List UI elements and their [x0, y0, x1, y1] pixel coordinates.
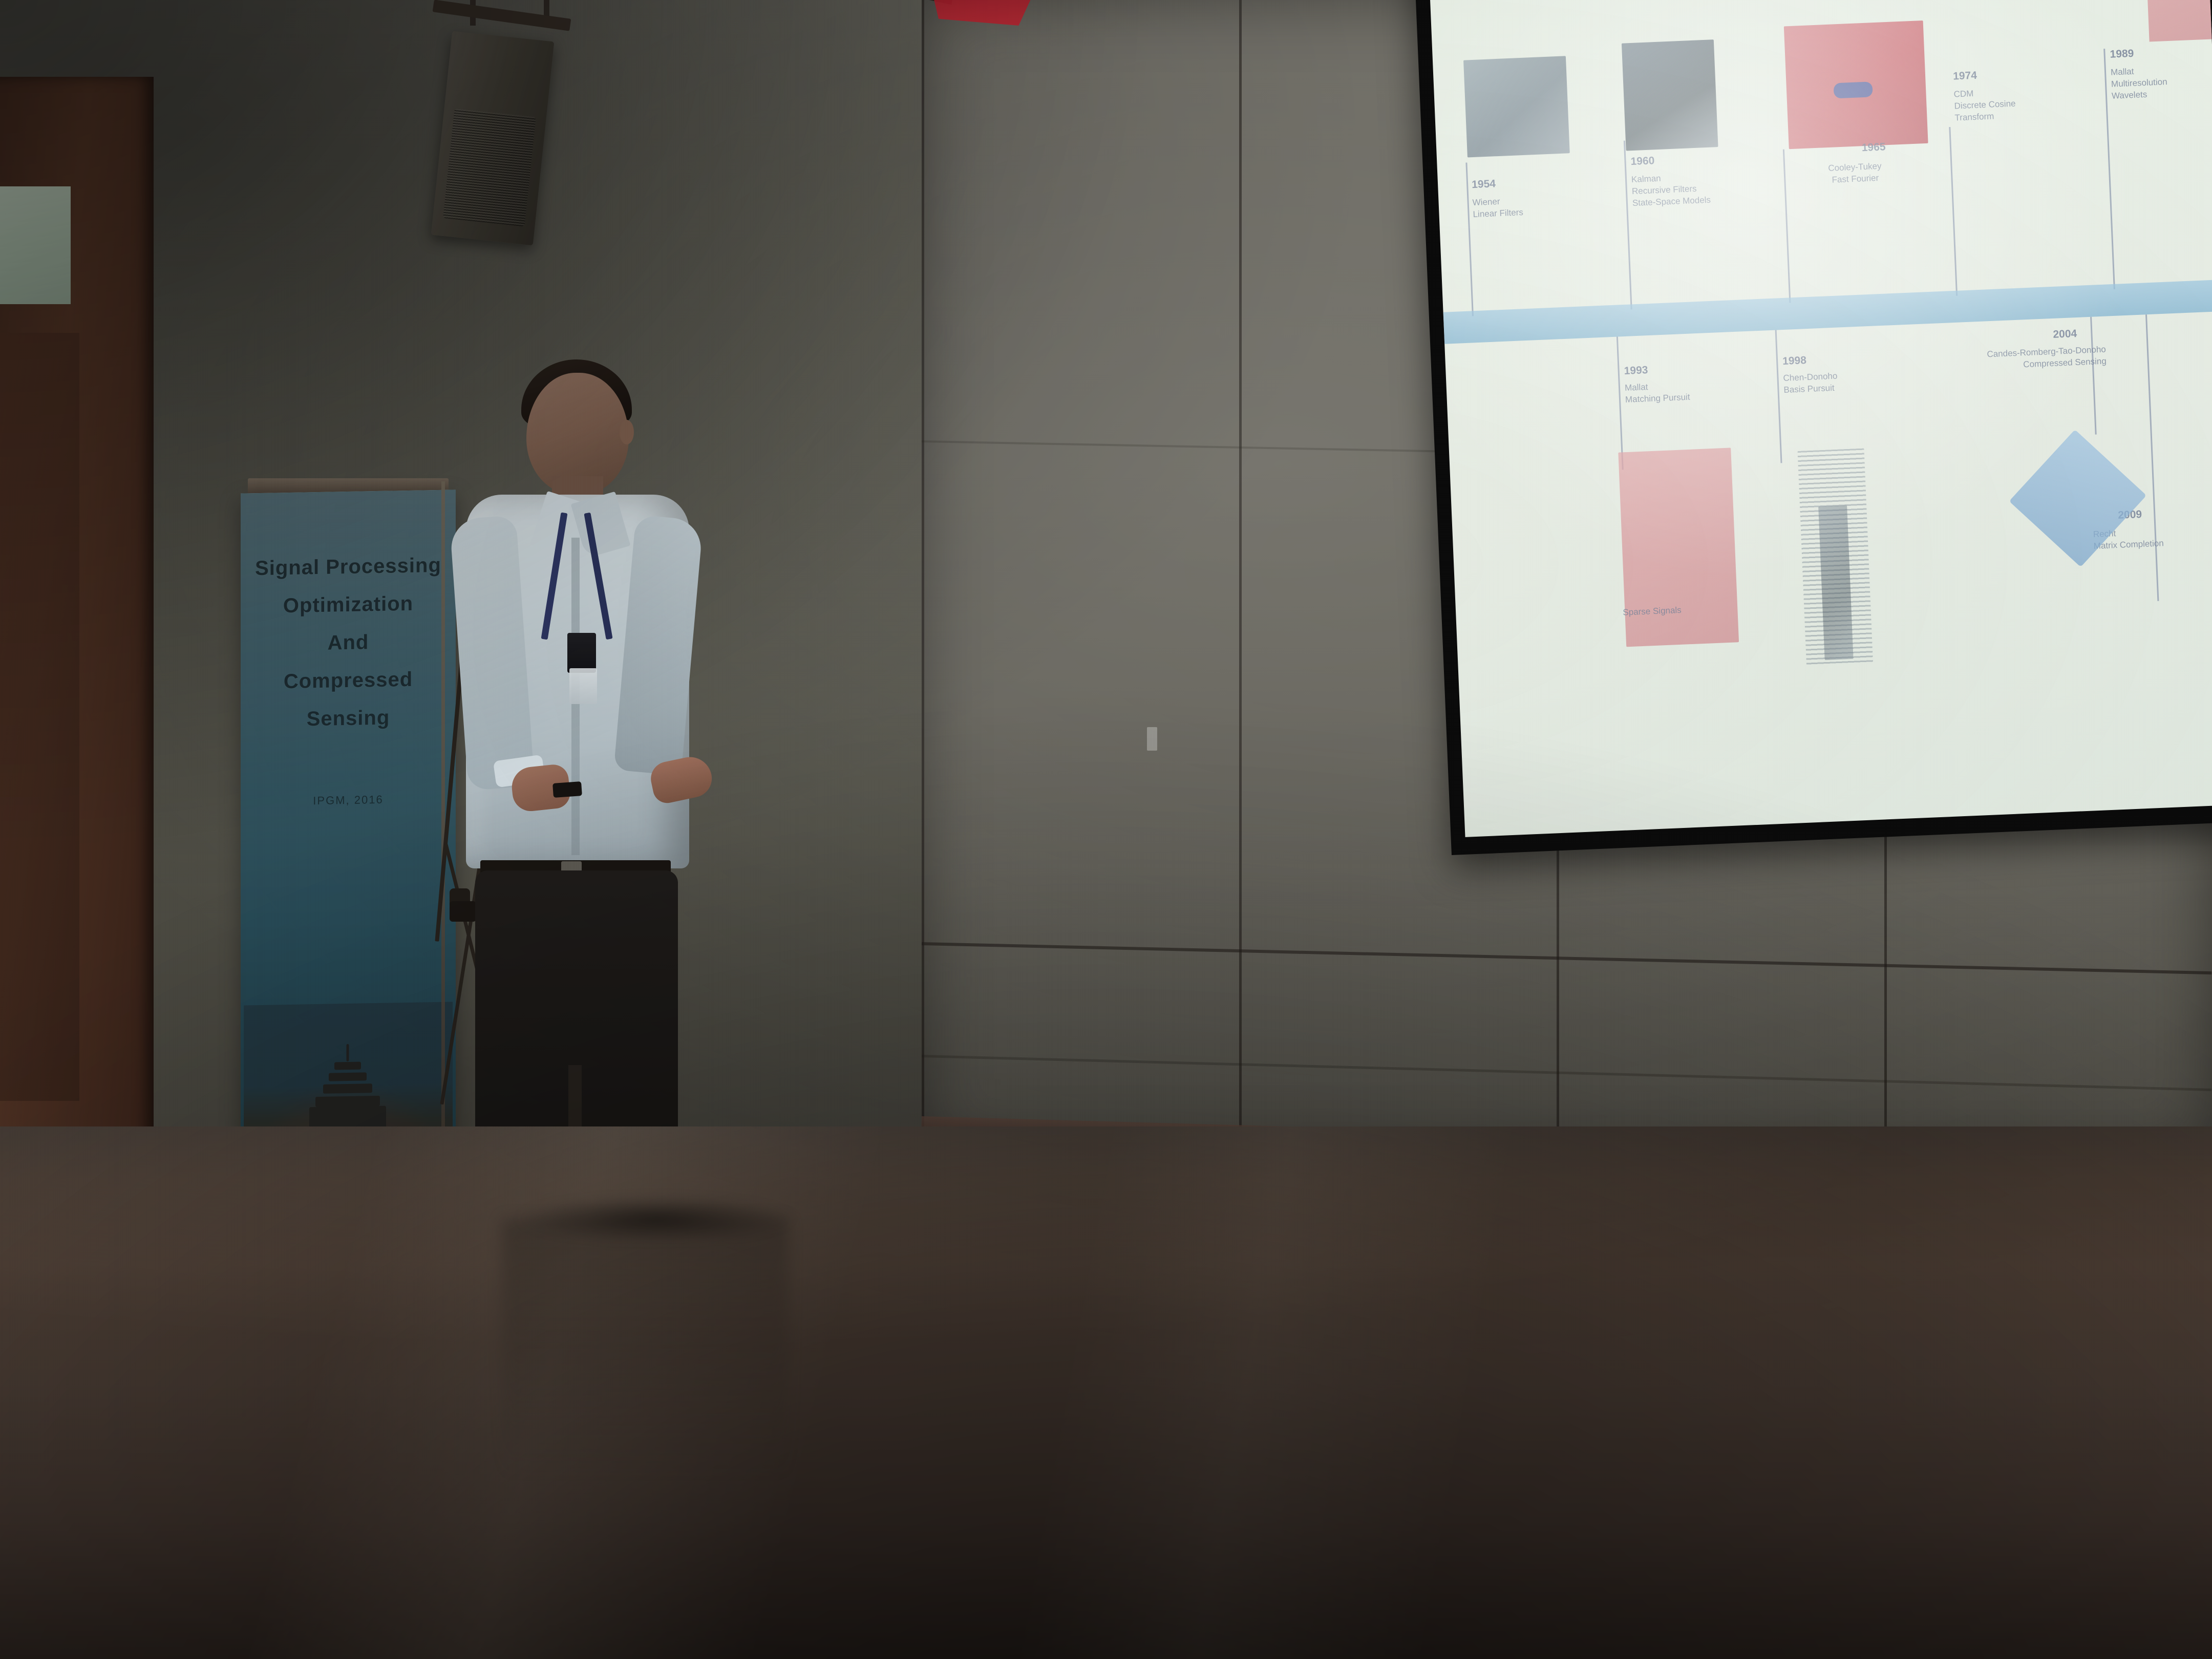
- slide-caption: Mallat Matching Pursuit: [1625, 377, 1743, 406]
- slide-year: 1998: [1782, 354, 1807, 368]
- ceiling-loudspeaker-icon: [431, 31, 555, 246]
- photo-scene: Signal Processing Optimization And Compr…: [0, 0, 2212, 1659]
- banner-face: Signal Processing Optimization And Compr…: [241, 490, 456, 1189]
- slide-year: 1954: [1472, 178, 1496, 191]
- slide-thumbnail: [1463, 56, 1570, 157]
- presenter-shadow: [461, 1188, 850, 1249]
- slide-year: 1960: [1630, 155, 1655, 168]
- door-window: [0, 186, 71, 304]
- slide-thumbnail: [1622, 39, 1718, 151]
- door-panel: [0, 333, 79, 1101]
- projected-slide: Models Physics 1954 Wiener Linear Filter…: [1427, 0, 2212, 837]
- slide-caption: Candes-Romberg-Tao-Donoho Compressed Sen…: [1958, 344, 2107, 374]
- badge-clip: [567, 633, 596, 673]
- presenter-reflection: [502, 1219, 789, 1546]
- slide-thumbnail-marker: [1834, 81, 1873, 98]
- slide-caption: Mallat Multiresolution Wavelets: [2111, 62, 2212, 102]
- slide-year: 1993: [1624, 364, 1648, 377]
- slide-year: 2004: [2053, 328, 2077, 341]
- projection-screen-frame: Models Physics 1954 Wiener Linear Filter…: [1413, 0, 2212, 855]
- floor-reflection: [0, 1126, 2212, 1659]
- name-badge: [569, 668, 597, 704]
- projection-screen: Models Physics 1954 Wiener Linear Filter…: [1427, 0, 2212, 837]
- slide-caption: Chen-Donoho Basis Pursuit: [1783, 368, 1902, 396]
- slide-year: 1965: [1861, 141, 1886, 154]
- slide-caption: CDM Discrete Cosine Transform: [1953, 84, 2073, 124]
- presentation-clicker-icon[interactable]: [552, 781, 582, 798]
- side-door[interactable]: [0, 77, 154, 1157]
- speaker-grille: [443, 109, 536, 227]
- banner-ambient-shade: [241, 490, 456, 1189]
- rollup-banner: Signal Processing Optimization And Compr…: [241, 492, 456, 1188]
- slide-caption: Cooley-Tukey Fast Fourier: [1796, 159, 1915, 187]
- slide-thumbnail: [2144, 0, 2212, 42]
- slide-divider-band: [1443, 280, 2212, 344]
- slide-caption: Wiener Linear Filters: [1472, 193, 1591, 221]
- slide-year: 1974: [1953, 70, 1977, 83]
- ear: [620, 420, 634, 444]
- slide-year: 1989: [2110, 48, 2134, 61]
- floor: [0, 1126, 2212, 1659]
- wall-switch[interactable]: [1147, 727, 1157, 751]
- slide-caption: Kalman Recursive Filters State-Space Mod…: [1631, 169, 1751, 209]
